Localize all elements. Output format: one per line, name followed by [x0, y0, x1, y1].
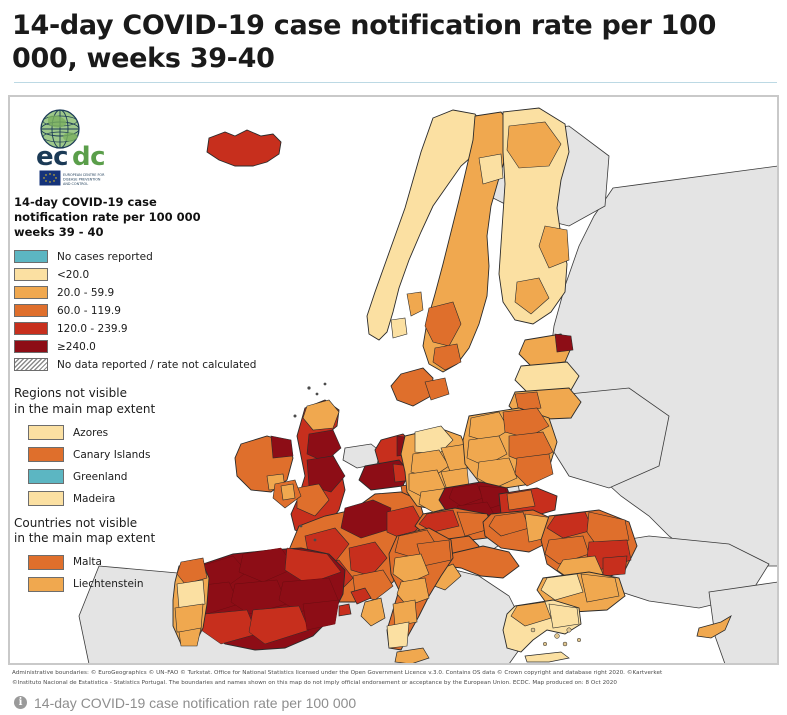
map-legend: 14-day COVID-19 case notification rate p… — [14, 195, 254, 599]
region-poland[interactable] — [463, 408, 557, 488]
legend-item-label: 20.0 - 59.9 — [57, 287, 114, 299]
legend-swatch — [28, 491, 64, 506]
legend-swatch — [14, 304, 48, 317]
figure-caption-text: 14-day COVID-19 case notification rate p… — [34, 695, 356, 711]
legend-swatch — [28, 577, 64, 592]
legend-item-greenland[interactable]: Greenland — [28, 469, 254, 484]
title-divider — [14, 82, 777, 83]
regions-not-visible-heading: Regions not visible in the main map exte… — [14, 386, 254, 417]
attribution-line-1: Administrative boundaries: © EuroGeograp… — [12, 669, 776, 679]
legend-item-20-59[interactable]: 20.0 - 59.9 — [14, 285, 254, 300]
regions-heading-line1: Regions not visible — [14, 386, 254, 401]
legend-swatch — [28, 555, 64, 570]
ecdc-wordmark-green: dc — [72, 142, 105, 172]
legend-swatch — [28, 469, 64, 484]
legend-item-label: Greenland — [73, 471, 127, 483]
legend-swatch — [14, 340, 48, 353]
map-attribution: Administrative boundaries: © EuroGeograp… — [12, 669, 776, 689]
legend-item-label: Azores — [73, 427, 108, 439]
info-icon: i — [14, 696, 27, 709]
ecdc-wordmark: ec — [36, 142, 68, 172]
eu-caption-line3: AND CONTROL — [63, 182, 88, 186]
legend-swatch — [14, 250, 48, 263]
legend-item-gte240[interactable]: ≥240.0 — [14, 339, 254, 354]
attribution-line-2: ©Instituto Nacional de Estatistica - Sta… — [12, 679, 776, 689]
eu-flag-icon — [40, 171, 60, 185]
legend-item-120-239[interactable]: 120.0 - 239.9 — [14, 321, 254, 336]
ecdc-logo-svg: ec dc EUROPEAN CENTRE FOR DISEASE PREVEN… — [14, 107, 124, 195]
legend-swatch — [14, 268, 48, 281]
eu-caption-line1: EUROPEAN CENTRE FOR — [63, 173, 105, 177]
legend-swatch — [14, 322, 48, 335]
title-block: 14-day COVID-19 case notification rate p… — [0, 0, 787, 82]
legend-item-liechtenstein[interactable]: Liechtenstein — [28, 577, 254, 592]
legend-item-no-data[interactable]: No data reported / rate not calculated — [14, 357, 254, 372]
legend-item-label: Madeira — [73, 493, 115, 505]
legend-item-lt20[interactable]: <20.0 — [14, 267, 254, 282]
legend-swatch — [28, 425, 64, 440]
legend-swatch — [28, 447, 64, 462]
legend-item-malta[interactable]: Malta — [28, 555, 254, 570]
regions-heading-line2: in the main map extent — [14, 402, 254, 417]
countries-heading-line2: in the main map extent — [14, 531, 254, 546]
region-latvia[interactable] — [515, 362, 579, 392]
legend-item-label: 120.0 - 239.9 — [57, 323, 128, 335]
page-title: 14-day COVID-19 case notification rate p… — [12, 10, 775, 82]
eu-caption-line2: DISEASE PREVENTION — [63, 177, 101, 181]
legend-title: 14-day COVID-19 case notification rate p… — [14, 195, 229, 241]
ecdc-logo: ec dc EUROPEAN CENTRE FOR DISEASE PREVEN… — [14, 107, 124, 195]
map-figure: ec dc EUROPEAN CENTRE FOR DISEASE PREVEN… — [0, 95, 787, 692]
legend-item-madeira[interactable]: Madeira — [28, 491, 254, 506]
legend-item-label: No cases reported — [57, 251, 153, 263]
region-finland[interactable] — [499, 108, 569, 324]
legend-item-label: Malta — [73, 556, 102, 568]
legend-item-60-119[interactable]: 60.0 - 119.9 — [14, 303, 254, 318]
legend-item-label: Canary Islands — [73, 449, 150, 461]
legend-item-label: No data reported / rate not calculated — [57, 359, 256, 371]
legend-item-azores[interactable]: Azores — [28, 425, 254, 440]
legend-item-label: <20.0 — [57, 269, 89, 281]
countries-heading-line1: Countries not visible — [14, 516, 254, 531]
legend-item-no-cases[interactable]: No cases reported — [14, 249, 254, 264]
figure-caption-bar: i 14-day COVID-19 case notification rate… — [0, 690, 787, 715]
legend-swatch-hatched — [14, 358, 48, 371]
legend-item-label: ≥240.0 — [57, 341, 96, 353]
legend-item-label: Liechtenstein — [73, 578, 144, 590]
legend-swatch — [14, 286, 48, 299]
legend-item-label: 60.0 - 119.9 — [57, 305, 121, 317]
countries-not-visible-heading: Countries not visible in the main map ex… — [14, 516, 254, 547]
legend-item-canary-islands[interactable]: Canary Islands — [28, 447, 254, 462]
